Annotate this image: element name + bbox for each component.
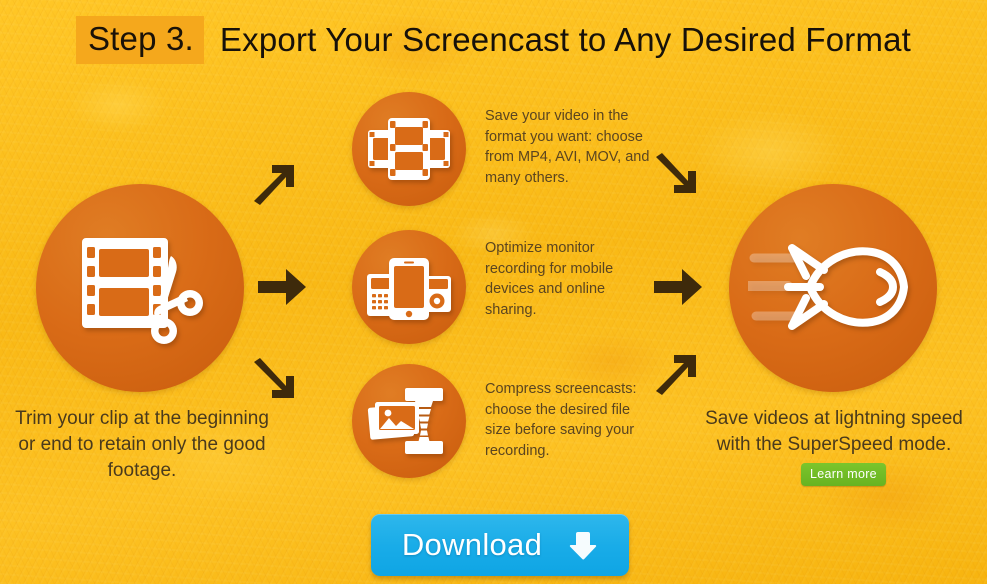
learn-more-link[interactable]: Learn more (801, 463, 886, 486)
format-feature-circle[interactable] (352, 92, 466, 206)
download-button[interactable]: Download (371, 514, 629, 576)
download-button-label: Download (402, 528, 542, 562)
film-formats-icon (366, 114, 452, 184)
arrow-left-up-icon (246, 157, 302, 213)
devices-feature-circle[interactable] (352, 230, 466, 344)
format-description: Save your video in the format you want: … (485, 106, 650, 188)
devices-description: Optimize monitor recording for mobile de… (485, 238, 650, 320)
arrow-right-mid-icon (650, 259, 706, 315)
arrow-left-down-icon (246, 350, 302, 406)
page-title-text: Export Your Screencast to Any Desired Fo… (204, 18, 911, 62)
rocket-icon (748, 228, 918, 348)
arrow-down-icon (568, 529, 598, 561)
step-badge: Step 3. (76, 16, 204, 64)
arrow-right-down-icon (648, 145, 704, 201)
mobile-devices-icon (366, 252, 452, 322)
compress-archive-icon (367, 384, 451, 458)
arrow-left-mid-icon (254, 259, 310, 315)
compress-description: Compress screencasts: choose the desired… (485, 379, 650, 461)
trim-feature-circle[interactable] (36, 184, 244, 392)
rocket-caption: Save videos at lightning speed with the … (690, 406, 978, 458)
film-strip-scissors-icon (74, 222, 206, 354)
trim-caption: Trim your clip at the beginning or end t… (6, 406, 278, 484)
promo-banner: Step 3. Export Your Screencast to Any De… (0, 0, 987, 584)
superspeed-feature-circle[interactable] (729, 184, 937, 392)
arrow-right-up-icon (648, 347, 704, 403)
compress-feature-circle[interactable] (352, 364, 466, 478)
page-title: Step 3. Export Your Screencast to Any De… (0, 14, 987, 66)
